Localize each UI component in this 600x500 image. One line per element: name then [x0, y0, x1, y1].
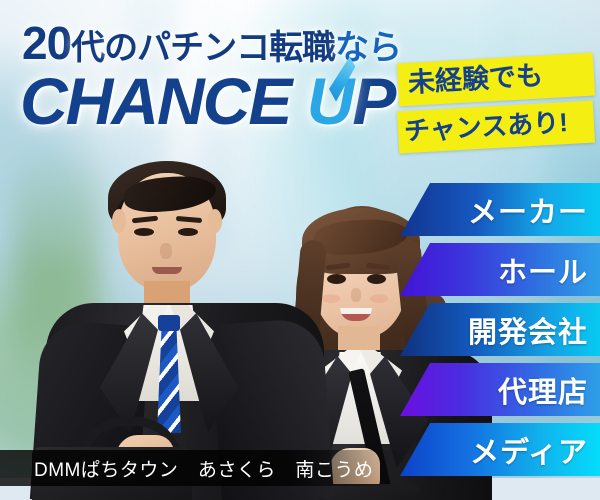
woman-eye: [367, 274, 386, 284]
man-mouth: [152, 267, 182, 274]
man-nose: [160, 243, 172, 259]
woman-teeth: [340, 308, 372, 314]
headline-middle: のパチンコ転職: [104, 29, 335, 67]
headline-tail: なら: [335, 29, 401, 67]
category-label: メディア: [470, 429, 588, 471]
category-banner-list: メーカー ホール 開発会社 代理店 メディア: [400, 183, 600, 483]
businessman-photo: [40, 155, 330, 500]
logo-letter-u: U: [307, 68, 353, 134]
man-ear: [208, 209, 222, 233]
headline-unit: 代: [71, 29, 104, 67]
logo-word-chance: CHANCE: [20, 64, 290, 138]
category-banner-maker[interactable]: メーカー: [400, 183, 600, 236]
category-label: 開発会社: [468, 309, 588, 351]
category-label: 代理店: [498, 369, 588, 411]
woman-cheek: [370, 294, 388, 303]
man-necktie-knot: [158, 315, 180, 331]
chance-up-logo: CHANCE UP: [20, 68, 394, 134]
promo-badge-line-1: 未経験でも: [397, 53, 595, 107]
category-banner-media[interactable]: メディア: [400, 423, 600, 476]
category-label: メーカー: [468, 189, 588, 231]
advertisement-banner[interactable]: 20代のパチンコ転職なら CHANCE UP 未経験でも チャンスあり! メーカ…: [0, 0, 600, 500]
man-ear: [112, 209, 126, 233]
promo-badge-line-2: チャンスあり!: [397, 101, 595, 154]
headline-number: 20: [22, 17, 71, 69]
caption-text: DMMぱちタウン あさくら 南こうめ: [0, 455, 373, 482]
category-banner-development-company[interactable]: 開発会社: [400, 303, 600, 356]
category-label: ホール: [498, 249, 588, 291]
caption-bar: DMMぱちタウン あさくら 南こうめ: [0, 450, 400, 486]
headline: 20代のパチンコ転職なら: [22, 16, 401, 70]
promo-badge: 未経験でも チャンスあり!: [398, 58, 594, 148]
man-eye: [134, 228, 154, 236]
man-eye: [178, 228, 198, 236]
woman-nose: [351, 288, 361, 302]
category-banner-agency[interactable]: 代理店: [400, 363, 600, 416]
category-banner-hall[interactable]: ホール: [400, 243, 600, 296]
logo-letter-p: P: [352, 64, 394, 138]
